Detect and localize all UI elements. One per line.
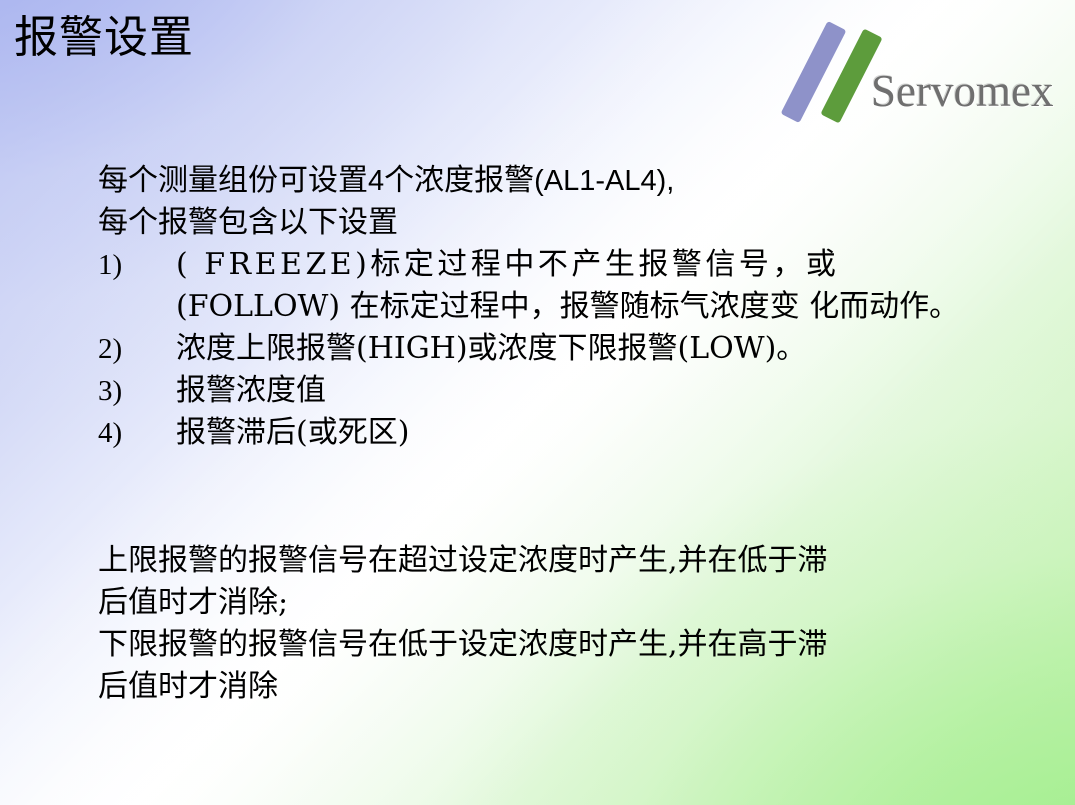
low-alarm-note: 下限报警的报警信号在低于设定浓度时产生,并在高于滞 后值时才消除 — [98, 624, 998, 708]
logo-wordmark: Servomex — [871, 66, 1053, 116]
list-marker: 3) — [98, 370, 158, 412]
list-item-line: 报警滞后(或死区) — [176, 415, 409, 450]
low-alarm-note-line: 下限报警的报警信号在低于设定浓度时产生,并在高于滞 — [98, 624, 998, 666]
list-item: 3) 报警浓度值 — [98, 370, 998, 412]
list-item: 1) ( FREEZE)标定过程中不产生报警信号，或 (FOLLOW) 在标定过… — [98, 244, 998, 328]
list-item: 2) 浓度上限报警(HIGH)或浓度下限报警(LOW)。 — [98, 328, 998, 370]
alarm-behaviour-notes: 上限报警的报警信号在超过设定浓度时产生,并在低于滞 后值时才消除; 下限报警的报… — [98, 540, 998, 708]
list-item: 4) 报警滞后(或死区) — [98, 412, 998, 454]
high-alarm-note-line: 后值时才消除; — [98, 582, 998, 624]
high-alarm-note: 上限报警的报警信号在超过设定浓度时产生,并在低于滞 后值时才消除; — [98, 540, 998, 624]
slide-canvas: 报警设置 Servomex 每个测量组份可设置4个浓度报警(AL1-AL4), … — [0, 0, 1075, 805]
list-item-line: 报警浓度值 — [176, 373, 326, 408]
high-alarm-note-line: 上限报警的报警信号在超过设定浓度时产生,并在低于滞 — [98, 540, 998, 582]
intro-line-1: 每个测量组份可设置4个浓度报警(AL1-AL4), — [98, 160, 998, 202]
intro-line1-count: 4 — [368, 165, 384, 197]
alarm-settings-list: 1) ( FREEZE)标定过程中不产生报警信号，或 (FOLLOW) 在标定过… — [98, 244, 998, 454]
list-item-line: (FOLLOW) 在标定过程中，报警随标气浓度变 — [176, 289, 800, 324]
list-item-line: 化而动作。 — [809, 289, 959, 324]
body-content: 每个测量组份可设置4个浓度报警(AL1-AL4), 每个报警包含以下设置 1) … — [98, 160, 998, 454]
intro-line1-prefix: 每个测量组份可设置 — [98, 163, 368, 198]
slide-title: 报警设置 — [14, 10, 194, 66]
intro-line1-middle: 个浓度报警 — [384, 163, 534, 198]
intro-line-2: 每个报警包含以下设置 — [98, 202, 998, 244]
list-marker: 2) — [98, 328, 158, 370]
list-item-line: ( FREEZE)标定过程中不产生报警信号，或 — [176, 247, 839, 282]
intro-line1-code: (AL1-AL4), — [534, 165, 674, 197]
list-item-line: 浓度上限报警(HIGH)或浓度下限报警(LOW)。 — [176, 331, 806, 366]
list-marker: 1) — [98, 244, 158, 286]
servomex-logo: Servomex — [795, 18, 1067, 124]
low-alarm-note-line: 后值时才消除 — [98, 666, 998, 708]
list-marker: 4) — [98, 412, 158, 454]
